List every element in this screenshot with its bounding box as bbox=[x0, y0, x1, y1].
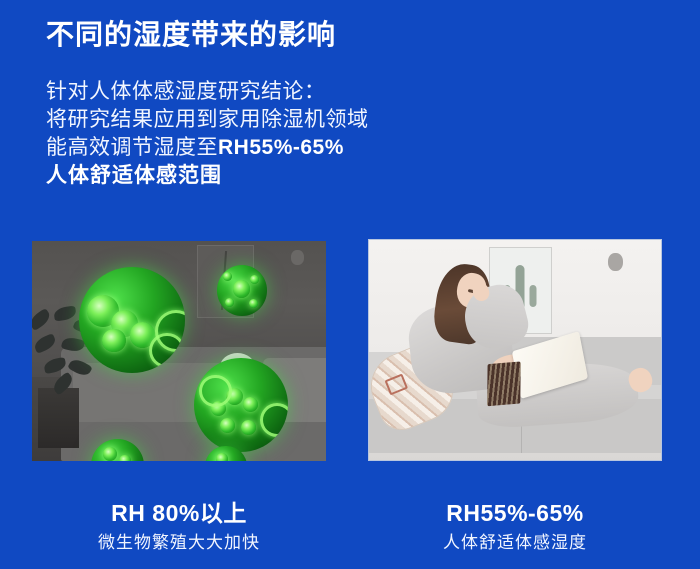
caption-comfort-humidity-sub: 人体舒适体感湿度 bbox=[368, 532, 662, 554]
dim-room-scene bbox=[32, 241, 326, 461]
intro-line-3-normal: 能高效调节湿度至 bbox=[46, 136, 218, 159]
microbe-sphere-small-top bbox=[217, 265, 267, 316]
caption-comfort-humidity: RH55%-65% 人体舒适体感湿度 bbox=[368, 498, 662, 554]
microbe-sphere-large bbox=[79, 267, 185, 373]
wall-knob-dark bbox=[291, 250, 304, 265]
intro-paragraph: 针对人体体感湿度研究结论： 将研究结果应用到家用除湿机领域 能高效调节湿度至RH… bbox=[46, 78, 606, 190]
humidity-infographic: 不同的湿度带来的影响 针对人体体感湿度研究结论： 将研究结果应用到家用除湿机领域… bbox=[0, 0, 700, 569]
caption-high-humidity-sub: 微生物繁殖大大加快 bbox=[32, 532, 326, 554]
caption-high-humidity-main: RH 80%以上 bbox=[32, 498, 326, 528]
intro-line-2: 将研究结果应用到家用除湿机领域 bbox=[46, 106, 606, 134]
caption-high-humidity: RH 80%以上 微生物繁殖大大加快 bbox=[32, 498, 326, 554]
intro-line-3: 能高效调节湿度至RH55%-65% bbox=[46, 134, 606, 162]
page-title: 不同的湿度带来的影响 bbox=[46, 18, 336, 52]
microbe-sphere-bottom bbox=[194, 358, 288, 453]
bright-room-scene bbox=[369, 240, 661, 460]
intro-line-3-highlight: RH55%-65% bbox=[218, 136, 344, 159]
caption-comfort-humidity-main: RH55%-65% bbox=[368, 498, 662, 528]
woman-reading bbox=[369, 240, 661, 460]
photo-high-humidity bbox=[32, 241, 326, 461]
photo-comfort-humidity bbox=[368, 239, 662, 461]
intro-line-1: 针对人体体感湿度研究结论： bbox=[46, 78, 606, 106]
intro-line-4: 人体舒适体感范围 bbox=[46, 162, 606, 190]
